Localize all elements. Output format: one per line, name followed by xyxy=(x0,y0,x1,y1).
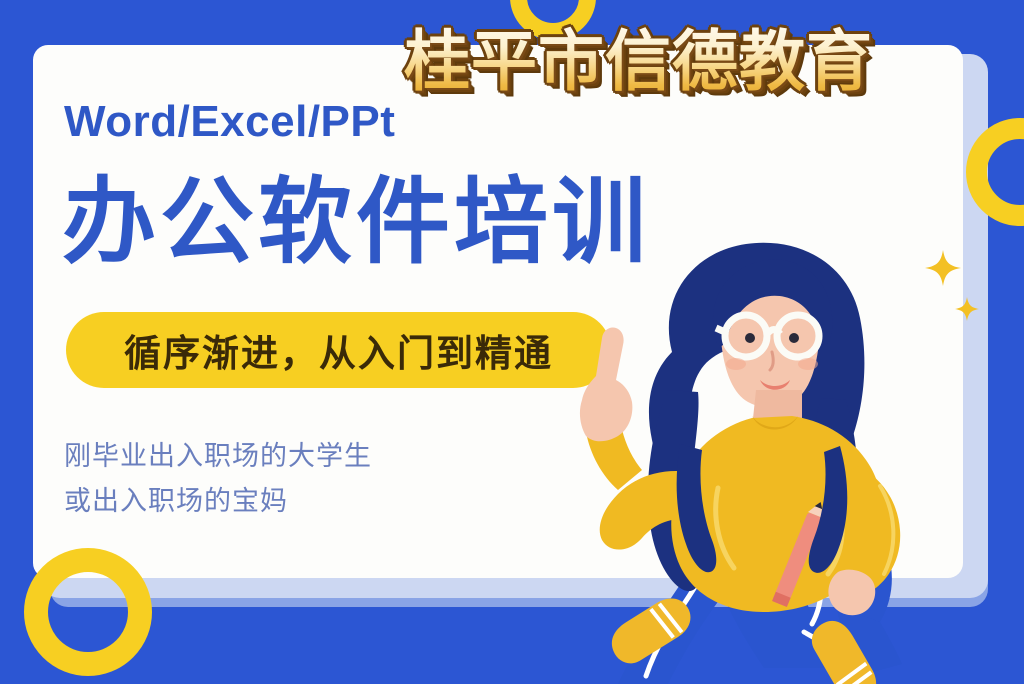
sparkle-small-icon xyxy=(955,297,979,321)
poster-canvas: Word/Excel/PPt 办公软件培训 循序渐进，从入门到精通 刚毕业出入职… xyxy=(0,0,1024,684)
audience-line-2: 或出入职场的宝妈 xyxy=(64,480,372,525)
sparkle-large-icon xyxy=(925,250,961,286)
subtitle-english: Word/Excel/PPt xyxy=(64,97,395,147)
audience-line-1: 刚毕业出入职场的大学生 xyxy=(64,435,372,480)
woman-pointing-up-illustration xyxy=(540,240,1010,684)
tagline-badge: 循序渐进，从入门到精通 xyxy=(66,312,611,388)
tagline-badge-label: 循序渐进，从入门到精通 xyxy=(124,323,553,377)
ring-bottom-left-icon xyxy=(24,548,152,676)
ring-top-icon xyxy=(510,0,596,40)
audience-block: 刚毕业出入职场的大学生 或出入职场的宝妈 xyxy=(64,435,372,524)
